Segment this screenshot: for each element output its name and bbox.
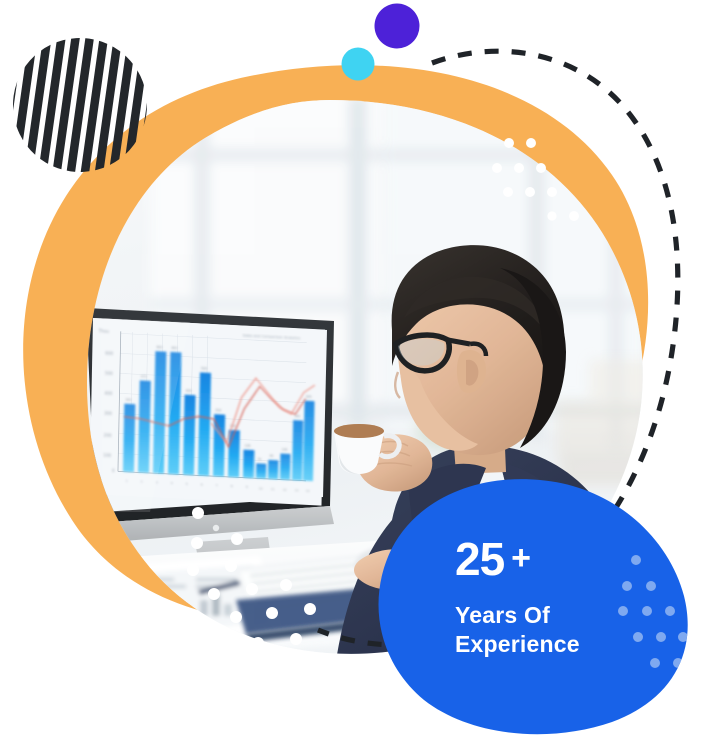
- experience-badge[interactable]: [378, 479, 688, 734]
- decoration-layer: Thou 600 500 400 300 200 100 0 Sales and…: [0, 0, 705, 740]
- purple-circle: [375, 4, 420, 49]
- cyan-circle: [342, 48, 375, 81]
- hero-graphic-stage: Thou 600 500 400 300 200 100 0 Sales and…: [0, 0, 705, 740]
